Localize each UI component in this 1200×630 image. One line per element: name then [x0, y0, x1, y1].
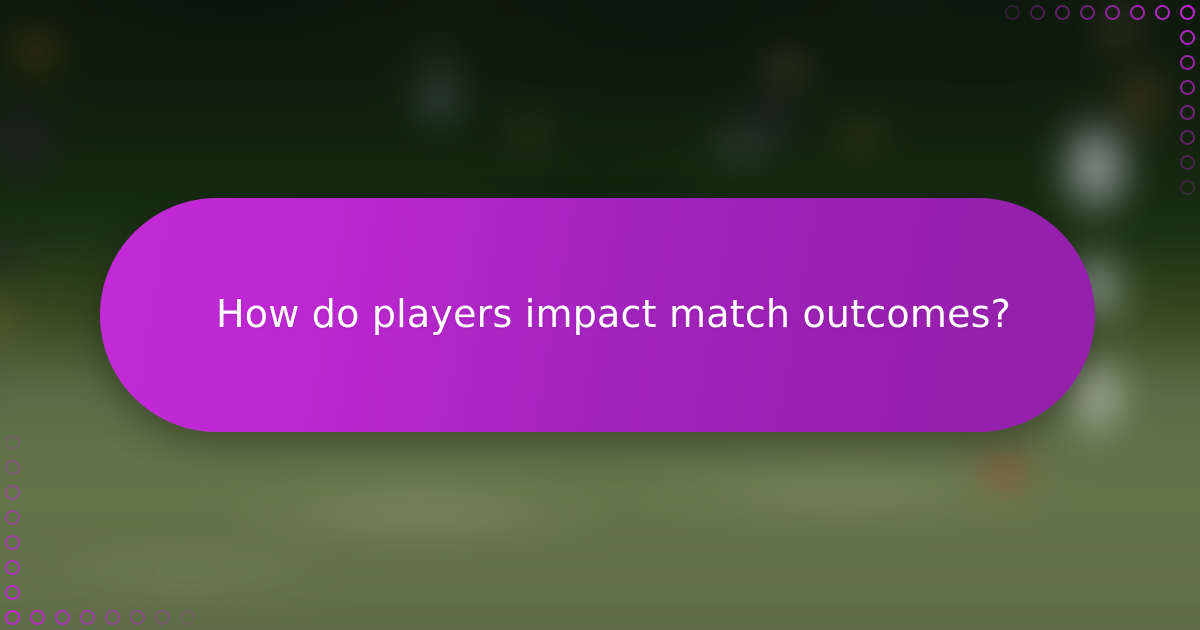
decor-dot	[1180, 30, 1195, 45]
banner-canvas: How do players impact match outcomes?	[0, 0, 1200, 630]
decor-dot	[1180, 180, 1195, 195]
decor-dot	[55, 610, 70, 625]
decorative-dots-top-right	[1000, 0, 1200, 200]
decor-dot	[105, 610, 120, 625]
decor-dot	[1180, 155, 1195, 170]
decor-dot	[5, 535, 20, 550]
decor-dot	[5, 460, 20, 475]
headline-pill[interactable]: How do players impact match outcomes?	[100, 198, 1095, 432]
decor-dot	[1105, 5, 1120, 20]
decor-dot	[1180, 5, 1195, 20]
decorative-dots-bottom-left	[0, 430, 200, 630]
decor-dot	[5, 585, 20, 600]
decor-dot	[1155, 5, 1170, 20]
decor-dot	[1005, 5, 1020, 20]
decor-dot	[180, 610, 195, 625]
decor-dot	[5, 510, 20, 525]
decor-dot	[1055, 5, 1070, 20]
decor-dot	[30, 610, 45, 625]
headline-text: How do players impact match outcomes?	[216, 292, 1011, 338]
decor-dot	[5, 560, 20, 575]
decor-dot	[1180, 105, 1195, 120]
decor-dot	[5, 610, 20, 625]
decor-dot	[1180, 80, 1195, 95]
decor-dot	[80, 610, 95, 625]
decor-dot	[5, 485, 20, 500]
decor-dot	[155, 610, 170, 625]
decor-dot	[1080, 5, 1095, 20]
decor-dot	[130, 610, 145, 625]
decor-dot	[1130, 5, 1145, 20]
decor-dot	[1180, 55, 1195, 70]
decor-dot	[1180, 130, 1195, 145]
decor-dot	[5, 435, 20, 450]
decor-dot	[1030, 5, 1045, 20]
